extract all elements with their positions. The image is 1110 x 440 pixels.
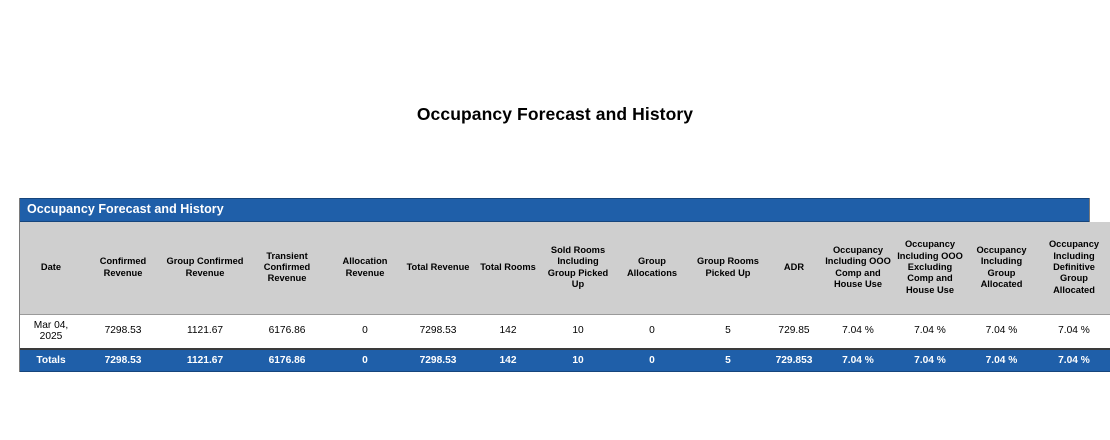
totals-row: Totals 7298.53 1121.67 6176.86 0 7298.53… (20, 349, 1110, 372)
column-header-date: Date (20, 222, 82, 314)
page-title: Occupancy Forecast and History (0, 104, 1110, 125)
column-header-sold-rooms-including-group-picked-up: Sold Rooms Including Group Picked Up (542, 222, 614, 314)
column-header-occupancy-including-definitive-group-allocated: Occupancy Including Definitive Group All… (1037, 222, 1110, 314)
totals-group-confirmed-revenue: 1121.67 (164, 349, 246, 372)
table-body: Mar 04, 2025 7298.53 1121.67 6176.86 0 7… (20, 314, 1110, 349)
column-header-allocation-revenue: Allocation Revenue (328, 222, 402, 314)
cell-adr: 729.85 (766, 314, 822, 349)
forecast-grid: Date Confirmed Revenue Group Confirmed R… (20, 222, 1110, 372)
cell-group-confirmed-revenue: 1121.67 (164, 314, 246, 349)
column-header-occupancy-including-ooo-comp-and-house-use: Occupancy Including OOO Comp and House U… (822, 222, 894, 314)
totals-adr: 729.853 (766, 349, 822, 372)
column-header-total-rooms: Total Rooms (474, 222, 542, 314)
totals-group-allocations: 0 (614, 349, 690, 372)
cell-date: Mar 04, 2025 (20, 314, 82, 349)
cell-group-allocations: 0 (614, 314, 690, 349)
totals-group-rooms-picked-up: 5 (690, 349, 766, 372)
column-header-transient-confirmed-revenue: Transient Confirmed Revenue (246, 222, 328, 314)
totals-occupancy-including-definitive-group-allocated: 7.04 % (1037, 349, 1110, 372)
cell-allocation-revenue: 0 (328, 314, 402, 349)
column-header-group-confirmed-revenue: Group Confirmed Revenue (164, 222, 246, 314)
cell-total-revenue: 7298.53 (402, 314, 474, 349)
totals-allocation-revenue: 0 (328, 349, 402, 372)
column-header-group-allocations: Group Allocations (614, 222, 690, 314)
cell-occupancy-including-definitive-group-allocated: 7.04 % (1037, 314, 1110, 349)
table-header: Date Confirmed Revenue Group Confirmed R… (20, 222, 1110, 314)
header-row: Date Confirmed Revenue Group Confirmed R… (20, 222, 1110, 314)
cell-group-rooms-picked-up: 5 (690, 314, 766, 349)
totals-occupancy-including-ooo-excluding-comp-and-house-use: 7.04 % (894, 349, 966, 372)
column-header-adr: ADR (766, 222, 822, 314)
totals-confirmed-revenue: 7298.53 (82, 349, 164, 372)
occupancy-forecast-table: Occupancy Forecast and History Date Conf… (19, 198, 1090, 372)
cell-confirmed-revenue: 7298.53 (82, 314, 164, 349)
column-header-group-rooms-picked-up: Group Rooms Picked Up (690, 222, 766, 314)
totals-total-rooms: 142 (474, 349, 542, 372)
totals-transient-confirmed-revenue: 6176.86 (246, 349, 328, 372)
cell-total-rooms: 142 (474, 314, 542, 349)
column-header-occupancy-including-group-allocated: Occupancy Including Group Allocated (966, 222, 1037, 314)
table-row: Mar 04, 2025 7298.53 1121.67 6176.86 0 7… (20, 314, 1110, 349)
cell-occupancy-including-group-allocated: 7.04 % (966, 314, 1037, 349)
table-totals: Totals 7298.53 1121.67 6176.86 0 7298.53… (20, 349, 1110, 372)
totals-occupancy-including-group-allocated: 7.04 % (966, 349, 1037, 372)
table-banner-title: Occupancy Forecast and History (20, 198, 1089, 222)
totals-occupancy-including-ooo-comp-and-house-use: 7.04 % (822, 349, 894, 372)
totals-label: Totals (20, 349, 82, 372)
totals-total-revenue: 7298.53 (402, 349, 474, 372)
column-header-occupancy-including-ooo-excluding-comp-and-house-use: Occupancy Including OOO Excluding Comp a… (894, 222, 966, 314)
totals-sold-rooms-including-group-picked-up: 10 (542, 349, 614, 372)
column-header-confirmed-revenue: Confirmed Revenue (82, 222, 164, 314)
cell-transient-confirmed-revenue: 6176.86 (246, 314, 328, 349)
cell-occupancy-including-ooo-excluding-comp-and-house-use: 7.04 % (894, 314, 966, 349)
report-page: Occupancy Forecast and History Occupancy… (0, 0, 1110, 440)
column-header-total-revenue: Total Revenue (402, 222, 474, 314)
cell-sold-rooms-including-group-picked-up: 10 (542, 314, 614, 349)
cell-occupancy-including-ooo-comp-and-house-use: 7.04 % (822, 314, 894, 349)
